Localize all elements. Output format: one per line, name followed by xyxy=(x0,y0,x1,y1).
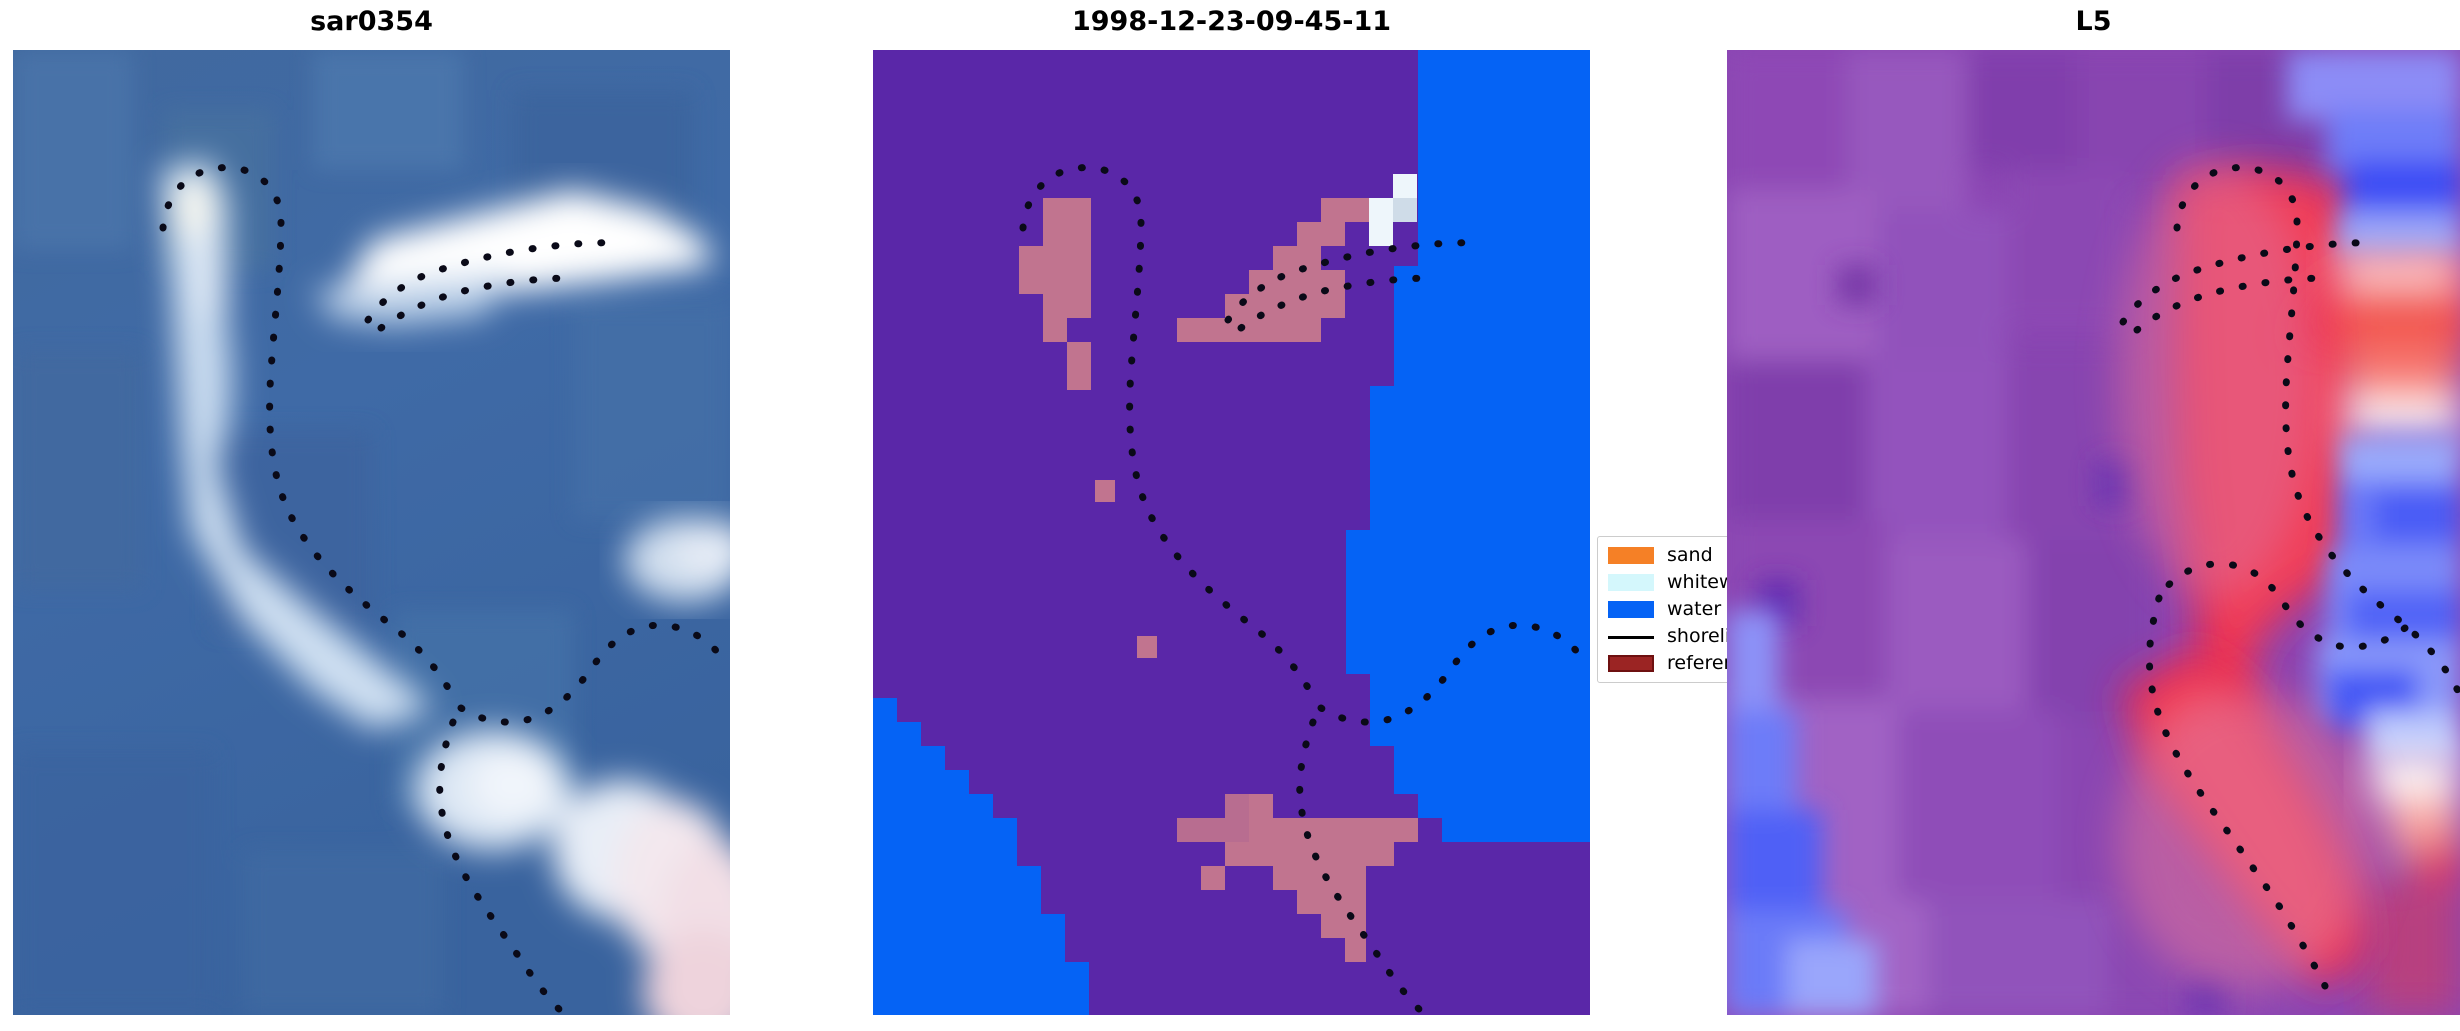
sand-swatch xyxy=(1608,547,1654,564)
classification-panel[interactable] xyxy=(873,50,1590,1015)
whitewater-swatch xyxy=(1608,574,1654,591)
classification-image xyxy=(873,50,1590,1015)
panel-title-classification: 1998-12-23-09-45-11 xyxy=(873,0,1590,44)
sar-panel[interactable] xyxy=(13,50,730,1015)
panel-title-sar: sar0354 xyxy=(13,0,730,44)
shoreline-line-swatch xyxy=(1608,628,1654,645)
figure-root: sar0354 xyxy=(0,0,2460,1031)
legend-label-sand: sand xyxy=(1667,546,1713,565)
l5-image xyxy=(1727,50,2460,1015)
legend-label-water: water xyxy=(1667,600,1721,619)
l5-panel[interactable] xyxy=(1727,50,2460,1015)
sar-image xyxy=(13,50,730,1015)
water-swatch xyxy=(1608,601,1654,618)
panel-title-l5: L5 xyxy=(1727,0,2460,44)
reference-swatch xyxy=(1608,655,1654,672)
